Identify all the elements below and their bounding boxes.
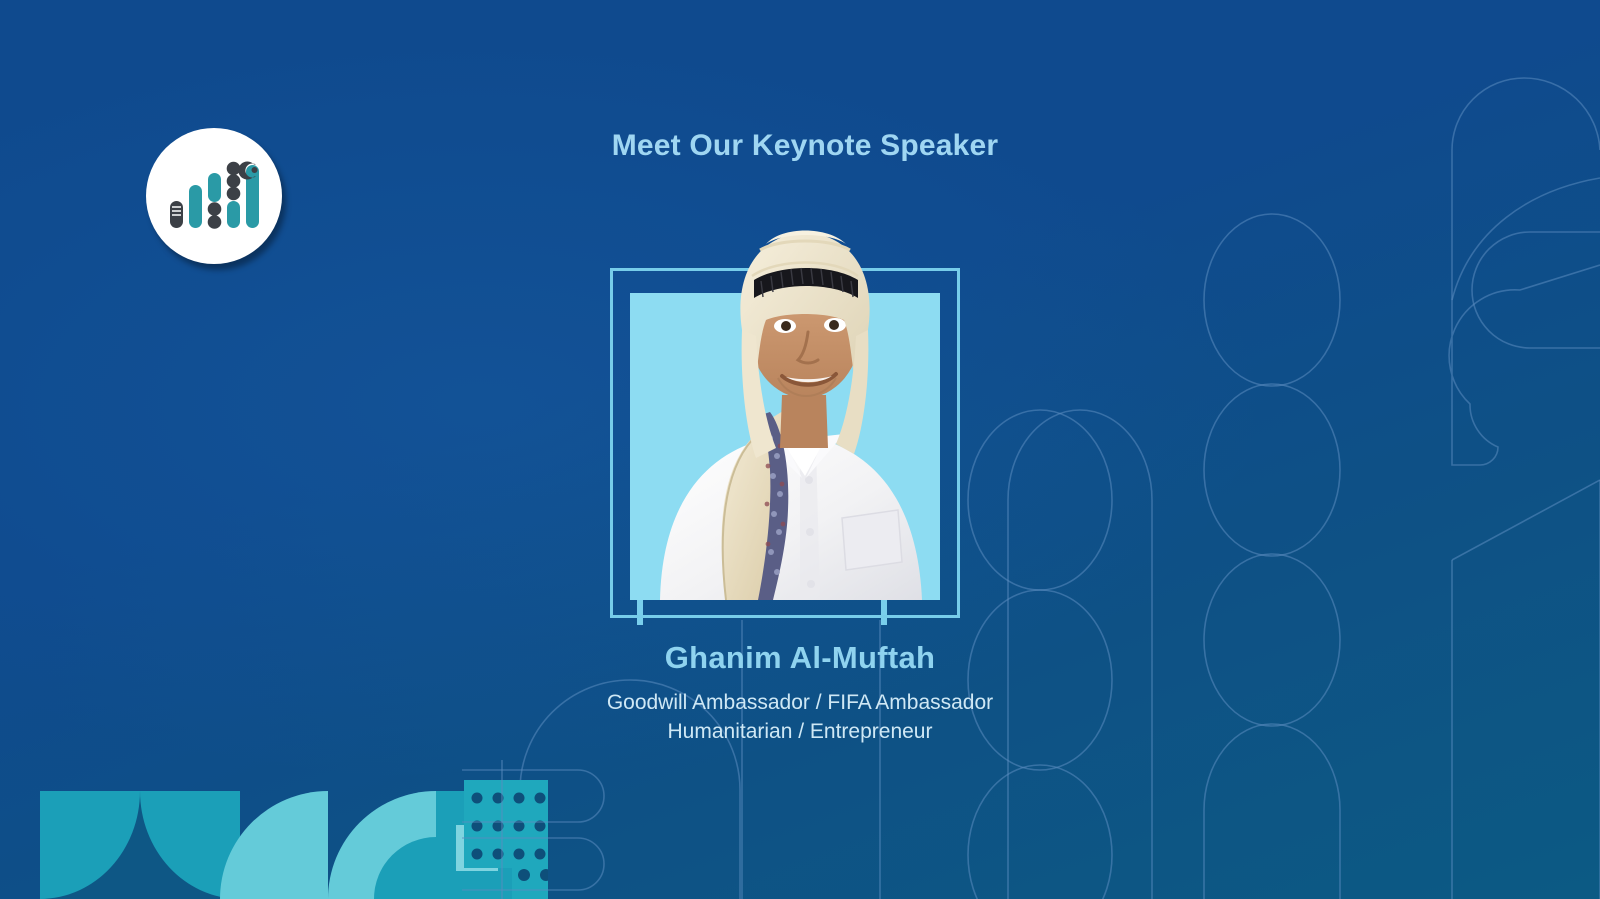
speaker-portrait-illustration [630, 180, 942, 600]
speaker-role-line-2: Humanitarian / Entrepreneur [0, 717, 1600, 746]
bottom-left-pattern-band [40, 791, 548, 899]
slide-title: Meet Our Keynote Speaker [0, 129, 1600, 163]
speaker-roles: Goodwill Ambassador / FIFA Ambassador Hu… [0, 688, 1600, 746]
slide-canvas: Meet Our Keynote Speaker [0, 0, 1600, 899]
bar-chart-logo-icon [168, 161, 260, 231]
slide-title-text: Meet Our Keynote Speaker [612, 129, 999, 163]
speaker-name: Ghanim Al-Muftah [0, 640, 1600, 676]
speaker-role-line-1: Goodwill Ambassador / FIFA Ambassador [0, 688, 1600, 717]
speaker-photo [630, 180, 942, 600]
